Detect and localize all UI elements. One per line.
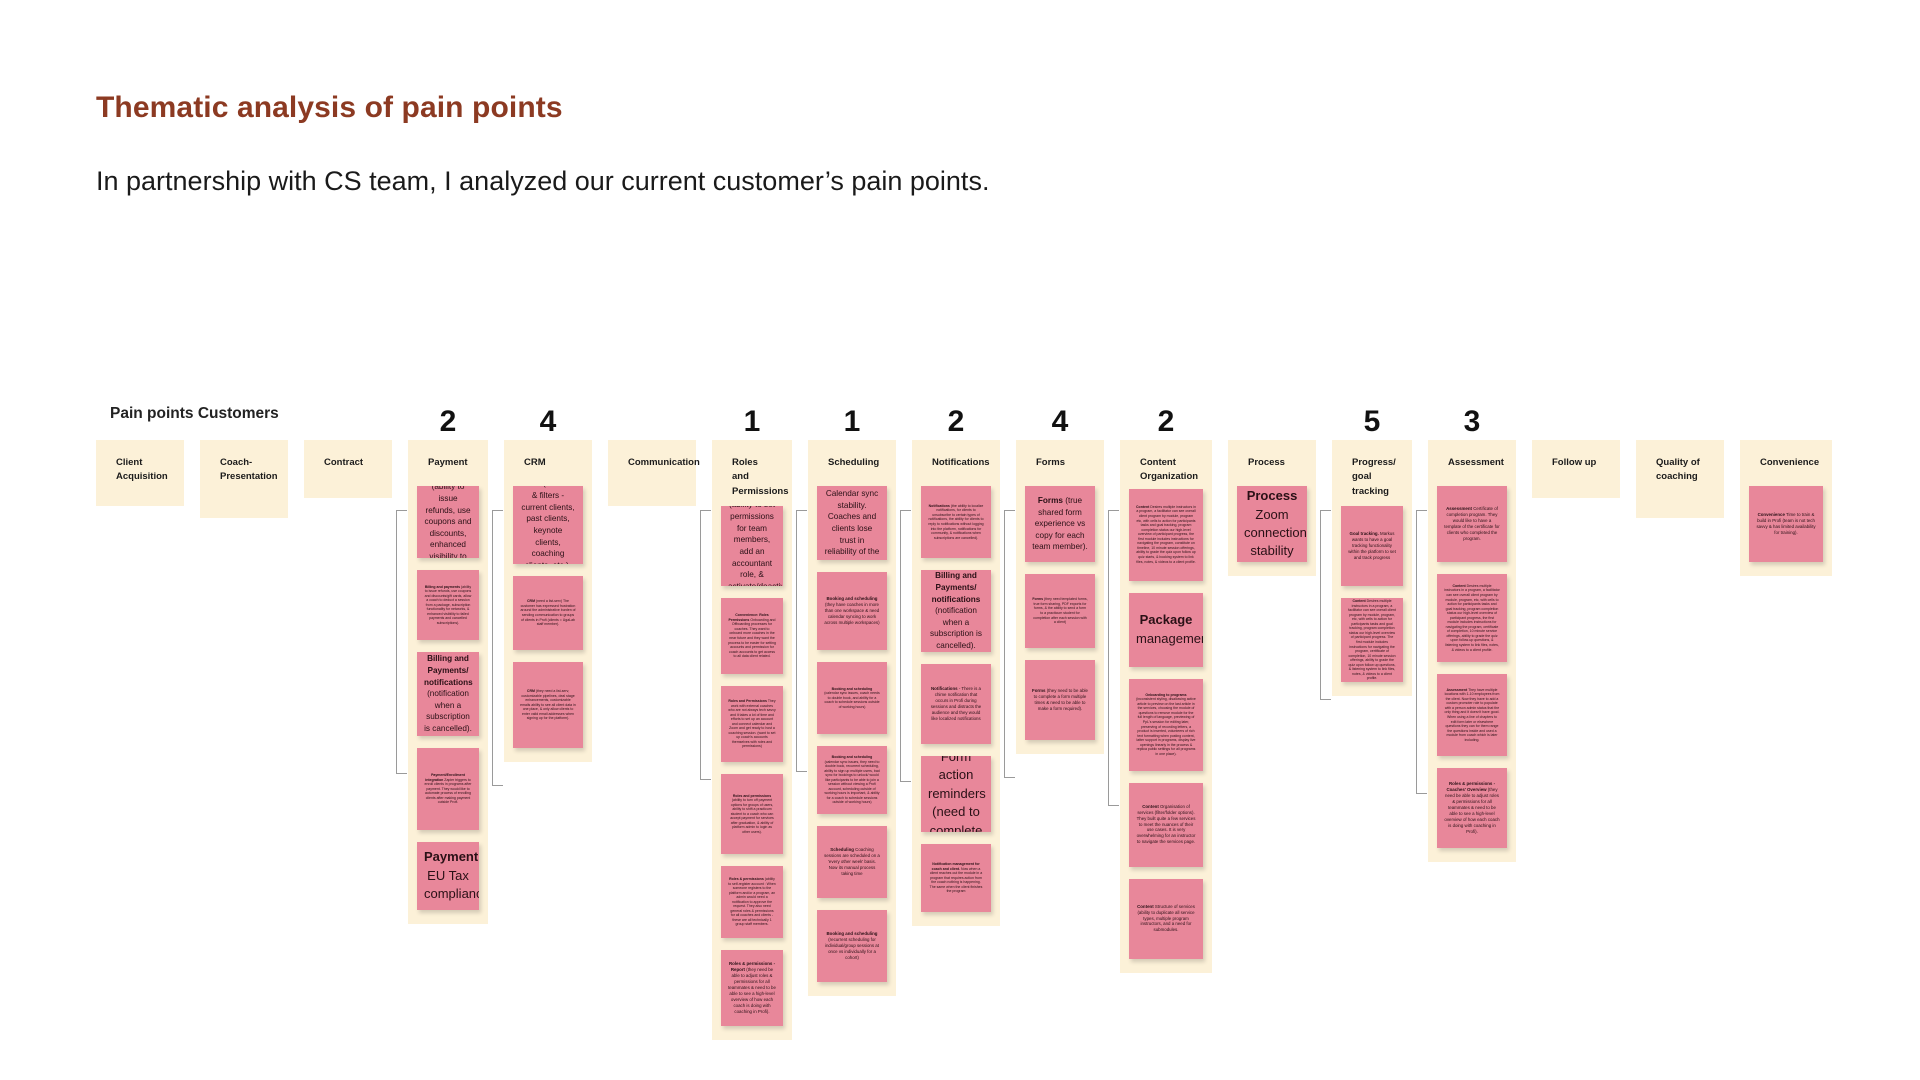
sticky-note[interactable]: Booking and scheduling (calendar sync is… bbox=[817, 662, 887, 734]
group-bracket bbox=[1108, 510, 1119, 806]
sticky-note[interactable]: Billing and Payments/ notifications (not… bbox=[921, 570, 991, 652]
sticky-note-body: (they need be able to adjust roles & per… bbox=[728, 967, 776, 1013]
column-body: Contract bbox=[304, 440, 392, 498]
sticky-note-text: Assessment Certificate of completion pro… bbox=[1444, 506, 1500, 541]
column-body: FormsForms (true shared form experience … bbox=[1016, 440, 1104, 754]
sticky-note-title: Forms bbox=[1032, 597, 1043, 601]
column-body: ProcessProcess Zoom connection stability bbox=[1228, 440, 1316, 576]
column-count-badge: 2 bbox=[408, 407, 488, 437]
sticky-note-body: Desires multiple instructors in a progra… bbox=[1444, 584, 1500, 652]
sticky-note[interactable]: Booking and scheduling (they have coache… bbox=[817, 572, 887, 650]
sticky-note-text: Content Organisation of services (filter… bbox=[1136, 804, 1196, 845]
sticky-note[interactable]: Forms (they need to be able to complete … bbox=[1025, 660, 1095, 740]
affinity-board: Client AcquisitionCoach- PresentationCon… bbox=[96, 440, 1920, 1040]
sticky-note-text: Billing and Payments/ notifications (not… bbox=[424, 653, 472, 734]
board-column: Client Acquisition bbox=[96, 440, 184, 506]
sticky-note-list: Process Zoom connection stability bbox=[1236, 482, 1308, 562]
sticky-note-title: Assessment bbox=[1447, 688, 1468, 692]
board-column: 2PaymentBilling and payments (ability to… bbox=[408, 440, 488, 924]
board-column: 4FormsForms (true shared form experience… bbox=[1016, 440, 1104, 754]
sticky-note-text: Roles and Permissions They work with ext… bbox=[728, 699, 776, 749]
sticky-note-text: Onboarding to programs (inconsistent sty… bbox=[1136, 693, 1196, 757]
sticky-note[interactable]: Scheduling Calendar sync stability. Coac… bbox=[817, 486, 887, 560]
sticky-note[interactable]: Content Desires multiple instructors in … bbox=[1437, 574, 1507, 662]
sticky-note[interactable]: Payment EU Tax compliancy bbox=[417, 842, 479, 910]
sticky-note[interactable]: Onboarding to programs (inconsistent sty… bbox=[1129, 679, 1203, 771]
column-header-label[interactable]: Scheduling bbox=[816, 456, 888, 482]
sticky-note-body: (the ability to localize notifications, … bbox=[928, 504, 983, 540]
column-header-label[interactable]: Payment bbox=[416, 456, 480, 482]
column-header-label[interactable]: Roles and Permissions bbox=[720, 456, 784, 502]
sticky-note-text: Booking and scheduling (calendar sync is… bbox=[824, 755, 880, 805]
sticky-note[interactable]: CRM (need a list-serv) The customer has … bbox=[513, 576, 583, 650]
column-header-label[interactable]: Contract bbox=[312, 456, 384, 482]
sticky-note-text: Assessment They have multiple locations … bbox=[1444, 688, 1500, 743]
sticky-note-text: Roles and permissions (ability to turn o… bbox=[728, 794, 776, 835]
sticky-note-body: (they need a list-serv, customizable pip… bbox=[520, 689, 576, 720]
group-bracket bbox=[1416, 510, 1427, 794]
sticky-note-body: Certificate of completion program. They … bbox=[1444, 506, 1499, 540]
board-column: 1Roles and PermissionsRoles and permissi… bbox=[712, 440, 792, 1040]
sticky-note-body: Desires multiple instructors in a progra… bbox=[1348, 599, 1396, 680]
column-header-label[interactable]: Communication bbox=[616, 456, 688, 490]
sticky-note-body: Zoom connection stability bbox=[1244, 507, 1307, 559]
sticky-note[interactable]: Goal tracking. Markus wants to have a go… bbox=[1341, 506, 1403, 586]
column-header-label[interactable]: Coach- Presentation bbox=[208, 456, 280, 502]
column-body: CRMCRM (list-serv & filters -current cli… bbox=[504, 440, 592, 762]
sticky-note-text: Scheduling Coaching sessions are schedul… bbox=[824, 847, 880, 876]
column-count-badge: 5 bbox=[1332, 407, 1412, 437]
sticky-note[interactable]: Content Desires multiple instructors in … bbox=[1341, 598, 1403, 682]
sticky-note-title: CRM bbox=[522, 486, 541, 488]
sticky-note-title: Package bbox=[1140, 612, 1193, 627]
sticky-note-title: Convenience bbox=[1758, 512, 1785, 517]
sticky-note-title: Booking and scheduling bbox=[827, 596, 878, 601]
sticky-note-title: Billing and Payments/ notifications bbox=[932, 571, 981, 603]
sticky-note-title: Roles and permissions bbox=[733, 794, 771, 798]
sticky-note-title: Payment bbox=[424, 849, 478, 864]
sticky-note[interactable]: Process Zoom connection stability bbox=[1237, 486, 1307, 562]
board-column: 3AssessmentAssessment Certificate of com… bbox=[1428, 440, 1516, 862]
sticky-note-title: Assessment bbox=[1446, 506, 1472, 511]
sticky-note-list: Assessment Certificate of completion pro… bbox=[1436, 482, 1508, 848]
board-column: 1SchedulingScheduling Calendar sync stab… bbox=[808, 440, 896, 996]
sticky-note-text: Scheduling Calendar sync stability. Coac… bbox=[824, 486, 880, 560]
sticky-note-text: Booking and scheduling (recurrent schedu… bbox=[824, 931, 880, 960]
group-bracket bbox=[396, 510, 407, 774]
sticky-note-body: Zapier triggers to enroll clients in pro… bbox=[425, 778, 472, 805]
sticky-note-text: Payment EU Tax compliancy bbox=[424, 848, 472, 903]
sticky-note-title: Onboarding to programs bbox=[1145, 693, 1186, 697]
sticky-note[interactable]: Forms (true shared form experience vs co… bbox=[1025, 486, 1095, 562]
column-body: PaymentBilling and payments (ability to … bbox=[408, 440, 488, 924]
sticky-note-text: Roles and permissions (ability to set pe… bbox=[728, 506, 776, 586]
column-body: Follow up bbox=[1532, 440, 1620, 498]
group-bracket bbox=[900, 510, 911, 782]
board-title: Pain points Customers bbox=[110, 405, 279, 423]
page-title: Thematic analysis of pain points bbox=[96, 90, 996, 126]
column-body: Roles and PermissionsRoles and permissio… bbox=[712, 440, 792, 1040]
sticky-note-title: Booking and scheduling bbox=[832, 755, 873, 759]
board-column: 5Progress/ goal trackingGoal tracking. M… bbox=[1332, 440, 1412, 696]
sticky-note-text: Convenience: Roles Permissions Onboardin… bbox=[728, 613, 776, 658]
sticky-note-text: Roles & permissions (ability to self-reg… bbox=[728, 877, 776, 927]
sticky-note-body: (they need templated forms, true form sh… bbox=[1033, 597, 1087, 624]
sticky-note-body: (ability to set permissions for team mem… bbox=[728, 506, 783, 586]
sticky-note-title: Forms bbox=[1032, 688, 1045, 693]
column-count-badge: 2 bbox=[912, 407, 1000, 437]
sticky-note-body: Organisation of services (filter/folder … bbox=[1137, 804, 1196, 844]
sticky-note-body: (ability to self-register account : When… bbox=[728, 877, 775, 926]
sticky-note-list: Billing and payments (ability to issue r… bbox=[416, 482, 480, 910]
sticky-note-text: Billing and Payments/ notifications (not… bbox=[928, 570, 984, 651]
board-column: ProcessProcess Zoom connection stability bbox=[1228, 440, 1316, 576]
sticky-note[interactable]: Roles & permissions -Report (they need b… bbox=[721, 950, 783, 1026]
board-column: Follow up bbox=[1532, 440, 1620, 498]
group-bracket bbox=[1004, 510, 1015, 778]
slide-header: Thematic analysis of pain points In part… bbox=[96, 90, 996, 200]
sticky-note-body: (inconsistent styling, disallowing activ… bbox=[1136, 697, 1196, 756]
sticky-note-body: (ability to turn off payment options for… bbox=[730, 798, 774, 834]
sticky-note-body: Form action reminders (need to complete … bbox=[928, 756, 986, 832]
sticky-note-list: Goal tracking. Markus wants to have a go… bbox=[1340, 502, 1404, 682]
sticky-note-list: CRM (list-serv & filters -current client… bbox=[512, 482, 584, 748]
sticky-note-body: EU Tax compliancy bbox=[424, 868, 479, 901]
sticky-note[interactable]: Convenience: Roles Permissions Onboardin… bbox=[721, 598, 783, 674]
sticky-note-title: Booking and scheduling bbox=[832, 687, 873, 691]
sticky-note-text: Payment/Enrollment integration Zapier tr… bbox=[424, 773, 472, 805]
sticky-note[interactable]: Notifications - There is a chime notific… bbox=[921, 664, 991, 744]
sticky-note-text: Reminders Form action reminders (need to… bbox=[928, 756, 984, 832]
board-column: 2Content OrganizationContent Desires mul… bbox=[1120, 440, 1212, 973]
sticky-note-title: Process bbox=[1247, 488, 1298, 503]
sticky-note-text: Content Structure of services (ability t… bbox=[1136, 904, 1196, 933]
sticky-note-body: Now when a client reaches out the module… bbox=[930, 867, 983, 894]
sticky-note-body: Calendar sync stability. Coaches and cli… bbox=[825, 489, 880, 560]
board-column: Coach- Presentation bbox=[200, 440, 288, 518]
column-body: ConvenienceConvenience Time to train & b… bbox=[1740, 440, 1832, 576]
sticky-note-text: CRM (need a list-serv) The customer has … bbox=[520, 599, 576, 626]
column-body: Content OrganizationContent Desires mult… bbox=[1120, 440, 1212, 973]
sticky-note-title: Goal tracking. bbox=[1350, 531, 1379, 536]
column-header-label[interactable]: Quality of coaching bbox=[1644, 456, 1716, 502]
group-bracket bbox=[492, 510, 503, 786]
sticky-note[interactable]: Content Organisation of services (filter… bbox=[1129, 783, 1203, 867]
sticky-note-body: (ability to issue refunds, use coupons a… bbox=[425, 486, 472, 558]
column-body: Quality of coaching bbox=[1636, 440, 1724, 518]
sticky-note-title: CRM bbox=[527, 689, 535, 693]
sticky-note[interactable]: CRM (list-serv & filters -current client… bbox=[513, 486, 583, 564]
column-count-badge: 4 bbox=[504, 407, 592, 437]
sticky-note-body: (notification when a subscription is can… bbox=[930, 606, 982, 650]
sticky-note-title: Content bbox=[1137, 904, 1154, 909]
board-column: ConvenienceConvenience Time to train & b… bbox=[1740, 440, 1832, 576]
sticky-note-title: Content bbox=[1136, 505, 1149, 509]
sticky-note-body: management bbox=[1136, 631, 1203, 646]
sticky-note[interactable]: Content Desires multiple instructors in … bbox=[1129, 489, 1203, 581]
sticky-note-title: Billing and Payments/ notifications bbox=[424, 654, 473, 686]
sticky-note[interactable]: Roles and permissions (ability to turn o… bbox=[721, 774, 783, 854]
sticky-note-text: Forms (true shared form experience vs co… bbox=[1032, 495, 1088, 553]
sticky-note-list: Forms (true shared form experience vs co… bbox=[1024, 482, 1096, 740]
sticky-note[interactable]: Roles & permissions (ability to self-reg… bbox=[721, 866, 783, 938]
column-body: Client Acquisition bbox=[96, 440, 184, 506]
sticky-note-body: (they need be able to adjust roles & per… bbox=[1444, 787, 1499, 833]
column-count-badge: 1 bbox=[808, 407, 896, 437]
sticky-note-text: Booking and scheduling (they have coache… bbox=[824, 596, 880, 625]
sticky-note[interactable]: Booking and scheduling (recurrent schedu… bbox=[817, 910, 887, 982]
column-header-label[interactable]: CRM bbox=[512, 456, 584, 482]
sticky-note-title: Content bbox=[1352, 599, 1365, 603]
column-count-badge: 4 bbox=[1016, 407, 1104, 437]
sticky-note[interactable]: Booking and scheduling (calendar sync is… bbox=[817, 746, 887, 814]
column-header-label[interactable]: Forms bbox=[1024, 456, 1096, 482]
sticky-note-text: Roles & permissions -Report (they need b… bbox=[728, 961, 776, 1014]
sticky-note-text: Goal tracking. Markus wants to have a go… bbox=[1348, 531, 1396, 560]
sticky-note-text: Forms (they need to be able to complete … bbox=[1032, 688, 1088, 712]
sticky-note[interactable]: Reminders Form action reminders (need to… bbox=[921, 756, 991, 832]
sticky-note[interactable]: Content Structure of services (ability t… bbox=[1129, 879, 1203, 959]
sticky-note[interactable]: Scheduling Coaching sessions are schedul… bbox=[817, 826, 887, 898]
sticky-note-body: They work with external coaches who are … bbox=[728, 699, 775, 748]
sticky-note-title: Notifications bbox=[931, 686, 958, 691]
sticky-note-title: Billing and payments bbox=[425, 585, 460, 589]
sticky-note-body: (they have coaches in more than one work… bbox=[824, 602, 879, 625]
page-subtitle: In partnership with CS team, I analyzed … bbox=[96, 162, 996, 200]
column-header-label[interactable]: Convenience bbox=[1748, 456, 1824, 482]
sticky-note[interactable]: Convenience Time to train & build in Pro… bbox=[1749, 486, 1823, 562]
board-column: 2NotificationsNotifications (the ability… bbox=[912, 440, 1000, 926]
group-bracket bbox=[1320, 510, 1331, 700]
sticky-note-title: Forms bbox=[1038, 496, 1063, 505]
board-column: 4CRMCRM (list-serv & filters -current cl… bbox=[504, 440, 592, 762]
sticky-note-list: Scheduling Calendar sync stability. Coac… bbox=[816, 482, 888, 982]
sticky-note-body: (calendar sync issues, they need to doub… bbox=[824, 760, 879, 805]
sticky-note-list: Roles and permissions (ability to set pe… bbox=[720, 502, 784, 1026]
column-header-label[interactable]: Client Acquisition bbox=[104, 456, 176, 490]
sticky-note-body: - There is a chime notification that occ… bbox=[931, 686, 982, 720]
sticky-note-body: (notification when a subscription is can… bbox=[424, 689, 472, 733]
column-body: Communication bbox=[608, 440, 696, 506]
sticky-note-list: Notifications (the ability to localize n… bbox=[920, 482, 992, 912]
column-body: NotificationsNotifications (the ability … bbox=[912, 440, 1000, 926]
column-header-label[interactable]: Process bbox=[1236, 456, 1308, 482]
sticky-note[interactable]: Package management bbox=[1129, 593, 1203, 667]
sticky-note-body: (recurrent scheduling for individual/gro… bbox=[825, 937, 879, 960]
sticky-note[interactable]: Billing and payments (ability to issue r… bbox=[417, 486, 479, 558]
column-header-label[interactable]: Notifications bbox=[920, 456, 992, 482]
sticky-note-text: Content Desires multiple instructors in … bbox=[1136, 505, 1196, 564]
sticky-note-text: Convenience Time to train & build in Pro… bbox=[1756, 512, 1816, 536]
sticky-note[interactable]: Billing and payments (ability to issue r… bbox=[417, 570, 479, 640]
sticky-note-title: Roles & permissions bbox=[729, 877, 764, 881]
sticky-note-list: Content Desires multiple instructors in … bbox=[1128, 485, 1204, 959]
column-header-label[interactable]: Content Organization bbox=[1128, 456, 1204, 485]
sticky-note-text: Billing and payments (ability to issue r… bbox=[424, 585, 472, 626]
sticky-note-text: Notification management for coach and cl… bbox=[928, 862, 984, 894]
sticky-note-text: Process Zoom connection stability bbox=[1244, 487, 1300, 561]
sticky-note-text: Forms (they need templated forms, true f… bbox=[1032, 597, 1088, 624]
sticky-note-text: Content Desires multiple instructors in … bbox=[1348, 599, 1396, 681]
column-body: SchedulingScheduling Calendar sync stabi… bbox=[808, 440, 896, 996]
sticky-note-title: Content bbox=[1142, 804, 1159, 809]
column-count-badge: 3 bbox=[1428, 407, 1516, 437]
sticky-note[interactable]: Roles and Permissions They work with ext… bbox=[721, 686, 783, 762]
group-bracket bbox=[796, 510, 807, 772]
column-header-label[interactable]: Follow up bbox=[1540, 456, 1612, 482]
sticky-note[interactable]: Assessment Certificate of completion pro… bbox=[1437, 486, 1507, 562]
sticky-note-body: (list-serv & filters -current clients, p… bbox=[521, 486, 574, 564]
sticky-note-title: Notifications bbox=[929, 504, 950, 508]
sticky-note[interactable]: Roles & permissions - Coaches' Overview … bbox=[1437, 768, 1507, 848]
sticky-note-text: Content Desires multiple instructors in … bbox=[1444, 584, 1500, 652]
sticky-note-title: Roles and Permissions bbox=[728, 699, 767, 703]
column-header-label[interactable]: Progress/ goal tracking bbox=[1340, 456, 1404, 502]
column-header-label[interactable]: Assessment bbox=[1436, 456, 1508, 482]
sticky-note[interactable]: Payment/Enrollment integration Zapier tr… bbox=[417, 748, 479, 830]
sticky-note-body: They have multiple locations with 1-10 e… bbox=[1445, 688, 1500, 742]
sticky-note-title: Content bbox=[1452, 584, 1465, 588]
sticky-note[interactable]: CRM (they need a list-serv, customizable… bbox=[513, 662, 583, 748]
sticky-note-text: Notifications (the ability to localize n… bbox=[928, 504, 984, 540]
sticky-note-body: (calendar sync issues, coach needs to do… bbox=[824, 691, 879, 709]
sticky-note[interactable]: Billing and Payments/ notifications (not… bbox=[417, 652, 479, 736]
sticky-note-text: Notifications - There is a chime notific… bbox=[928, 686, 984, 721]
sticky-note[interactable]: Roles and permissions (ability to set pe… bbox=[721, 506, 783, 586]
column-body: Coach- Presentation bbox=[200, 440, 288, 518]
group-bracket bbox=[700, 510, 711, 780]
sticky-note[interactable]: Notifications (the ability to localize n… bbox=[921, 486, 991, 558]
column-body: Progress/ goal trackingGoal tracking. Ma… bbox=[1332, 440, 1412, 696]
sticky-note-text: Billing and payments (ability to issue r… bbox=[424, 486, 472, 558]
board-column: Contract bbox=[304, 440, 392, 498]
sticky-note[interactable]: Notification management for coach and cl… bbox=[921, 844, 991, 912]
sticky-note-text: Package management bbox=[1136, 611, 1196, 648]
sticky-note-body: (need a list-serv) The customer has expr… bbox=[520, 599, 575, 626]
sticky-note-text: Booking and scheduling (calendar sync is… bbox=[824, 687, 880, 710]
sticky-note-body: Onboarding and Offboarding processes for… bbox=[728, 618, 776, 658]
sticky-note[interactable]: Forms (they need templated forms, true f… bbox=[1025, 574, 1095, 648]
board-column: Communication bbox=[608, 440, 696, 506]
sticky-note-title: CRM bbox=[527, 599, 535, 603]
sticky-note-list: Convenience Time to train & build in Pro… bbox=[1748, 482, 1824, 562]
sticky-note-title: Booking and scheduling bbox=[827, 931, 878, 936]
sticky-note-title: Scheduling bbox=[830, 847, 854, 852]
sticky-note-text: Roles & permissions - Coaches' Overview … bbox=[1444, 781, 1500, 834]
sticky-note-body: Desires multiple instructors in a progra… bbox=[1136, 505, 1196, 564]
sticky-note-text: CRM (they need a list-serv, customizable… bbox=[520, 689, 576, 721]
board-column: Quality of coaching bbox=[1636, 440, 1724, 518]
sticky-note-body: (ability to issue refunds, use coupons a… bbox=[425, 585, 472, 625]
column-body: AssessmentAssessment Certificate of comp… bbox=[1428, 440, 1516, 862]
sticky-note[interactable]: Assessment They have multiple locations … bbox=[1437, 674, 1507, 756]
column-count-badge: 1 bbox=[712, 407, 792, 437]
sticky-note-text: CRM (list-serv & filters -current client… bbox=[520, 486, 576, 564]
column-count-badge: 2 bbox=[1120, 407, 1212, 437]
